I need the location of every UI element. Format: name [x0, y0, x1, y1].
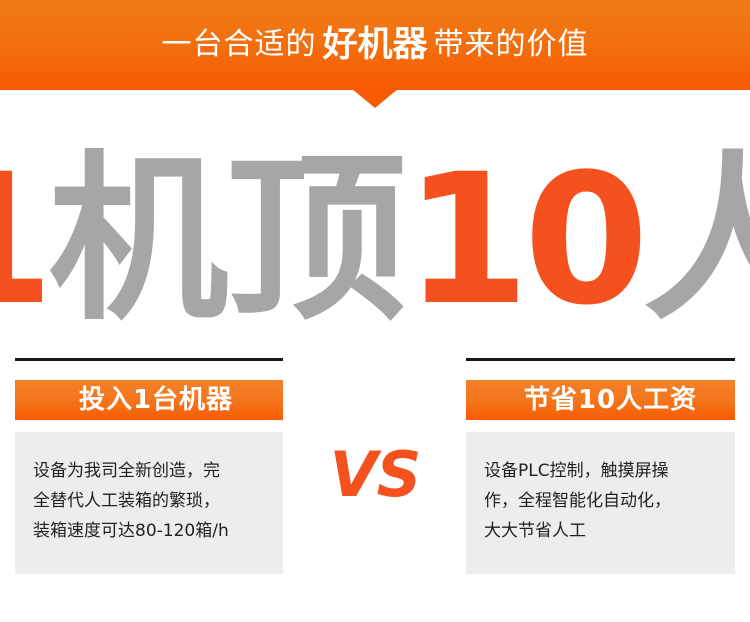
- versus-label: VS: [300, 444, 450, 506]
- banner-text-part1: 一台合适的: [161, 30, 316, 60]
- card-left-body-line-2: 全替代人工装箱的繁琐，: [33, 486, 267, 516]
- headline-word-replaces: 机顶: [48, 151, 404, 331]
- card-right-body-line-3: 大大节省人工: [484, 516, 719, 546]
- card-right-body-line-1: 设备PLC控制，触摸屏操: [484, 456, 719, 486]
- header-banner-text: 一台合适的 好机器 带来的价值: [0, 0, 750, 90]
- comparison-card-right: 节省10人工资 设备PLC控制，触摸屏操 作，全程智能化自动化， 大大节省人工: [466, 358, 735, 574]
- banner-arrow-icon: [352, 89, 398, 108]
- card-right-body-line-2: 作，全程智能化自动化，: [484, 486, 719, 516]
- card-left-body: 设备为我司全新创造，完 全替代人工装箱的繁琐， 装箱速度可达80-120箱/h: [15, 432, 283, 574]
- page-title: 1 机顶 10 人: [0, 146, 750, 336]
- promo-page: 一台合适的 好机器 带来的价值 1 机顶 10 人 投入1台机器 设备为我司全新…: [0, 0, 750, 622]
- card-right-title: 节省10人工资: [466, 380, 735, 420]
- divider-left: [15, 358, 283, 361]
- card-left-body-line-1: 设备为我司全新创造，完: [33, 456, 267, 486]
- card-left-title: 投入1台机器: [15, 380, 283, 420]
- headline-people-count: 10: [404, 151, 643, 331]
- banner-text-highlight: 好机器: [316, 28, 433, 63]
- divider-right: [466, 358, 735, 361]
- comparison-card-left: 投入1台机器 设备为我司全新创造，完 全替代人工装箱的繁琐， 装箱速度可达80-…: [15, 358, 283, 574]
- card-left-body-line-3: 装箱速度可达80-120箱/h: [33, 516, 267, 546]
- banner-text-part3: 带来的价值: [434, 30, 589, 60]
- header-banner: 一台合适的 好机器 带来的价值: [0, 0, 750, 90]
- headline-machine-count: 1: [0, 151, 48, 331]
- card-right-body: 设备PLC控制，触摸屏操 作，全程智能化自动化， 大大节省人工: [466, 432, 735, 574]
- headline-word-people: 人: [643, 151, 750, 331]
